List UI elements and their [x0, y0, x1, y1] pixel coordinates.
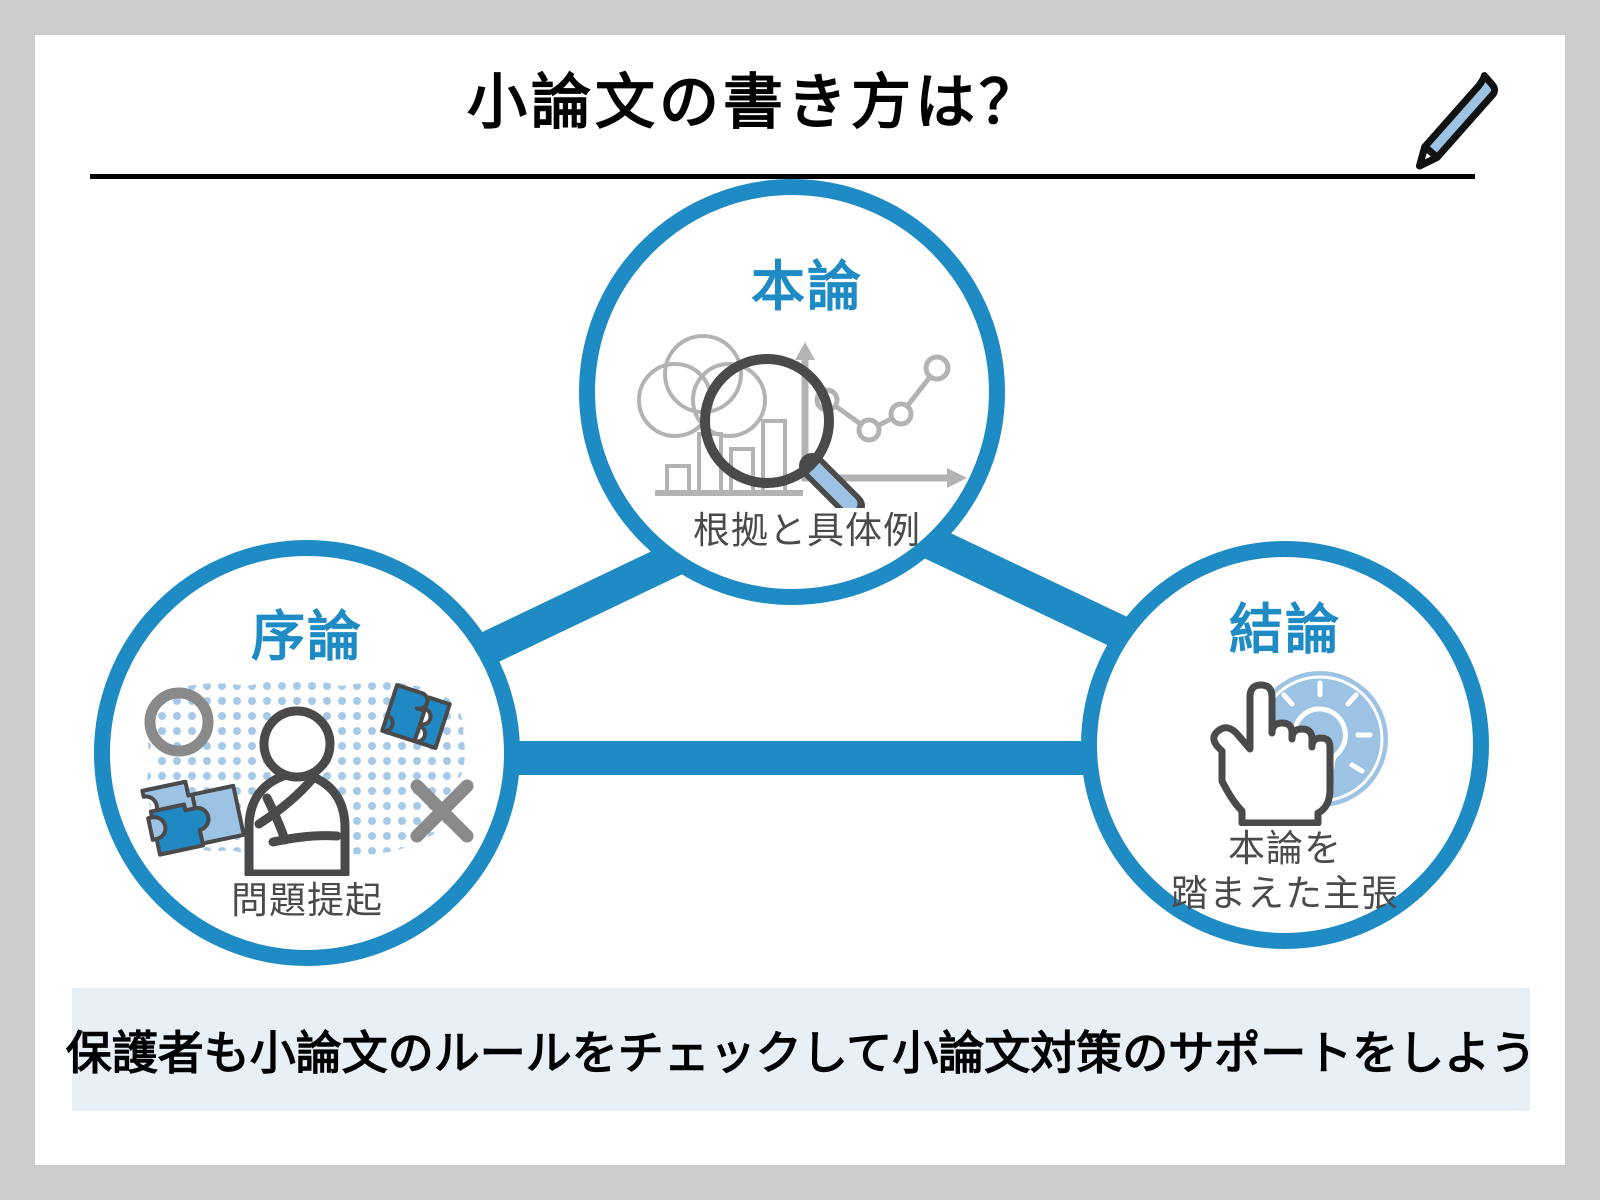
node-main: 本論 — [557, 220, 1057, 553]
magnifier — [705, 359, 852, 506]
magnifier-charts-icon — [637, 318, 977, 508]
node-main-heading: 本論 — [557, 260, 1057, 314]
axis-y-arrow — [795, 342, 815, 360]
title-underline — [90, 174, 1475, 179]
pencil-icon — [1390, 65, 1500, 180]
trend-point-3 — [891, 404, 911, 424]
trend-point-4 — [926, 357, 948, 379]
node-conclusion-caption-line1: 本論を — [1045, 828, 1525, 871]
node-conclusion-caption-line2: 踏まえた主張 — [1045, 873, 1525, 916]
node-main-caption: 根拠と具体例 — [557, 510, 1057, 553]
bar-1 — [667, 466, 689, 492]
slide-canvas: 小論文の書き方は？ — [0, 0, 1600, 1200]
thinking-person — [249, 711, 345, 874]
bottom-banner: 保護者も小論文のルールをチェックして小論文対策のサポートをしよう — [72, 988, 1530, 1111]
thinking-person-puzzle-icon — [127, 666, 487, 876]
slide-card: 小論文の書き方は？ — [35, 35, 1565, 1165]
hand-lightbulb-icon — [1160, 661, 1410, 826]
node-intro-caption: 問題提起 — [57, 880, 557, 923]
axis-x-arrow — [947, 468, 967, 488]
page-title: 小論文の書き方は？ — [35, 73, 1475, 133]
trend-line — [827, 368, 937, 430]
node-intro-heading: 序論 — [57, 610, 557, 664]
node-conclusion-heading: 結論 — [1045, 603, 1525, 657]
title-area: 小論文の書き方は？ — [35, 55, 1565, 185]
node-conclusion: 結論 — [1045, 575, 1525, 915]
trend-point-2 — [859, 420, 879, 440]
node-intro: 序論 — [57, 580, 557, 923]
banner-text: 保護者も小論文のルールをチェックして小論文対策のサポートをしよう — [66, 1017, 1537, 1083]
